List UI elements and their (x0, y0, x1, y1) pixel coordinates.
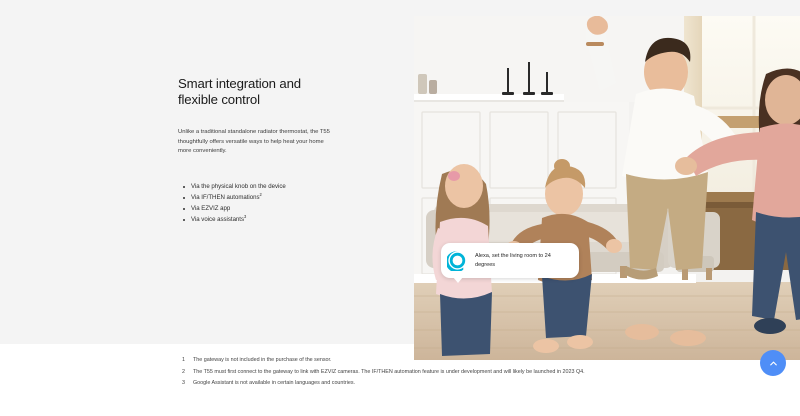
alexa-ring-icon (447, 250, 468, 271)
hero-copy-column: Smart integration and flexible control U… (178, 76, 338, 108)
footnote-number: 3 (182, 379, 193, 387)
list-item: Via the physical knob on the device (191, 181, 356, 192)
voice-command-text: Alexa, set the living room to 24 degrees (475, 252, 572, 269)
list-item: Via IF/THEN automations2 (191, 192, 356, 203)
footnote-number: 2 (182, 368, 193, 376)
list-item-label: Via voice assistants (191, 216, 244, 223)
page-title: Smart integration and flexible control (178, 76, 338, 108)
voice-command-bubble: Alexa, set the living room to 24 degrees (441, 243, 579, 278)
hero-section: Smart integration and flexible control U… (0, 0, 800, 344)
list-item: Via voice assistants3 (191, 214, 356, 225)
footnote-item: 2 The T55 must first connect to the gate… (182, 368, 622, 376)
lifestyle-photo (414, 16, 800, 360)
list-item-label: Via IF/THEN automations (191, 194, 260, 201)
footnote-text: Google Assistant is not available in cer… (193, 379, 355, 387)
footnote-number: 1 (182, 356, 193, 364)
feature-list: Via the physical knob on the device Via … (180, 181, 356, 225)
footnote-text: The gateway is not included in the purch… (193, 356, 331, 364)
footnote-item: 1 The gateway is not included in the pur… (182, 356, 622, 364)
chevron-up-icon (768, 358, 779, 369)
list-item-label: Via EZVIZ app (191, 205, 230, 212)
scroll-to-top-button[interactable] (760, 350, 786, 376)
list-item: Via EZVIZ app (191, 203, 356, 214)
footnote-item: 3 Google Assistant is not available in c… (182, 379, 622, 387)
hero-description: Unlike a traditional standalone radiator… (178, 128, 330, 157)
list-item-label: Via the physical knob on the device (191, 183, 286, 190)
footnote-ref: 2 (260, 192, 262, 197)
footnote-text: The T55 must first connect to the gatewa… (193, 368, 585, 376)
footnote-list: 1 The gateway is not included in the pur… (182, 356, 622, 391)
footnote-ref: 3 (244, 214, 246, 219)
